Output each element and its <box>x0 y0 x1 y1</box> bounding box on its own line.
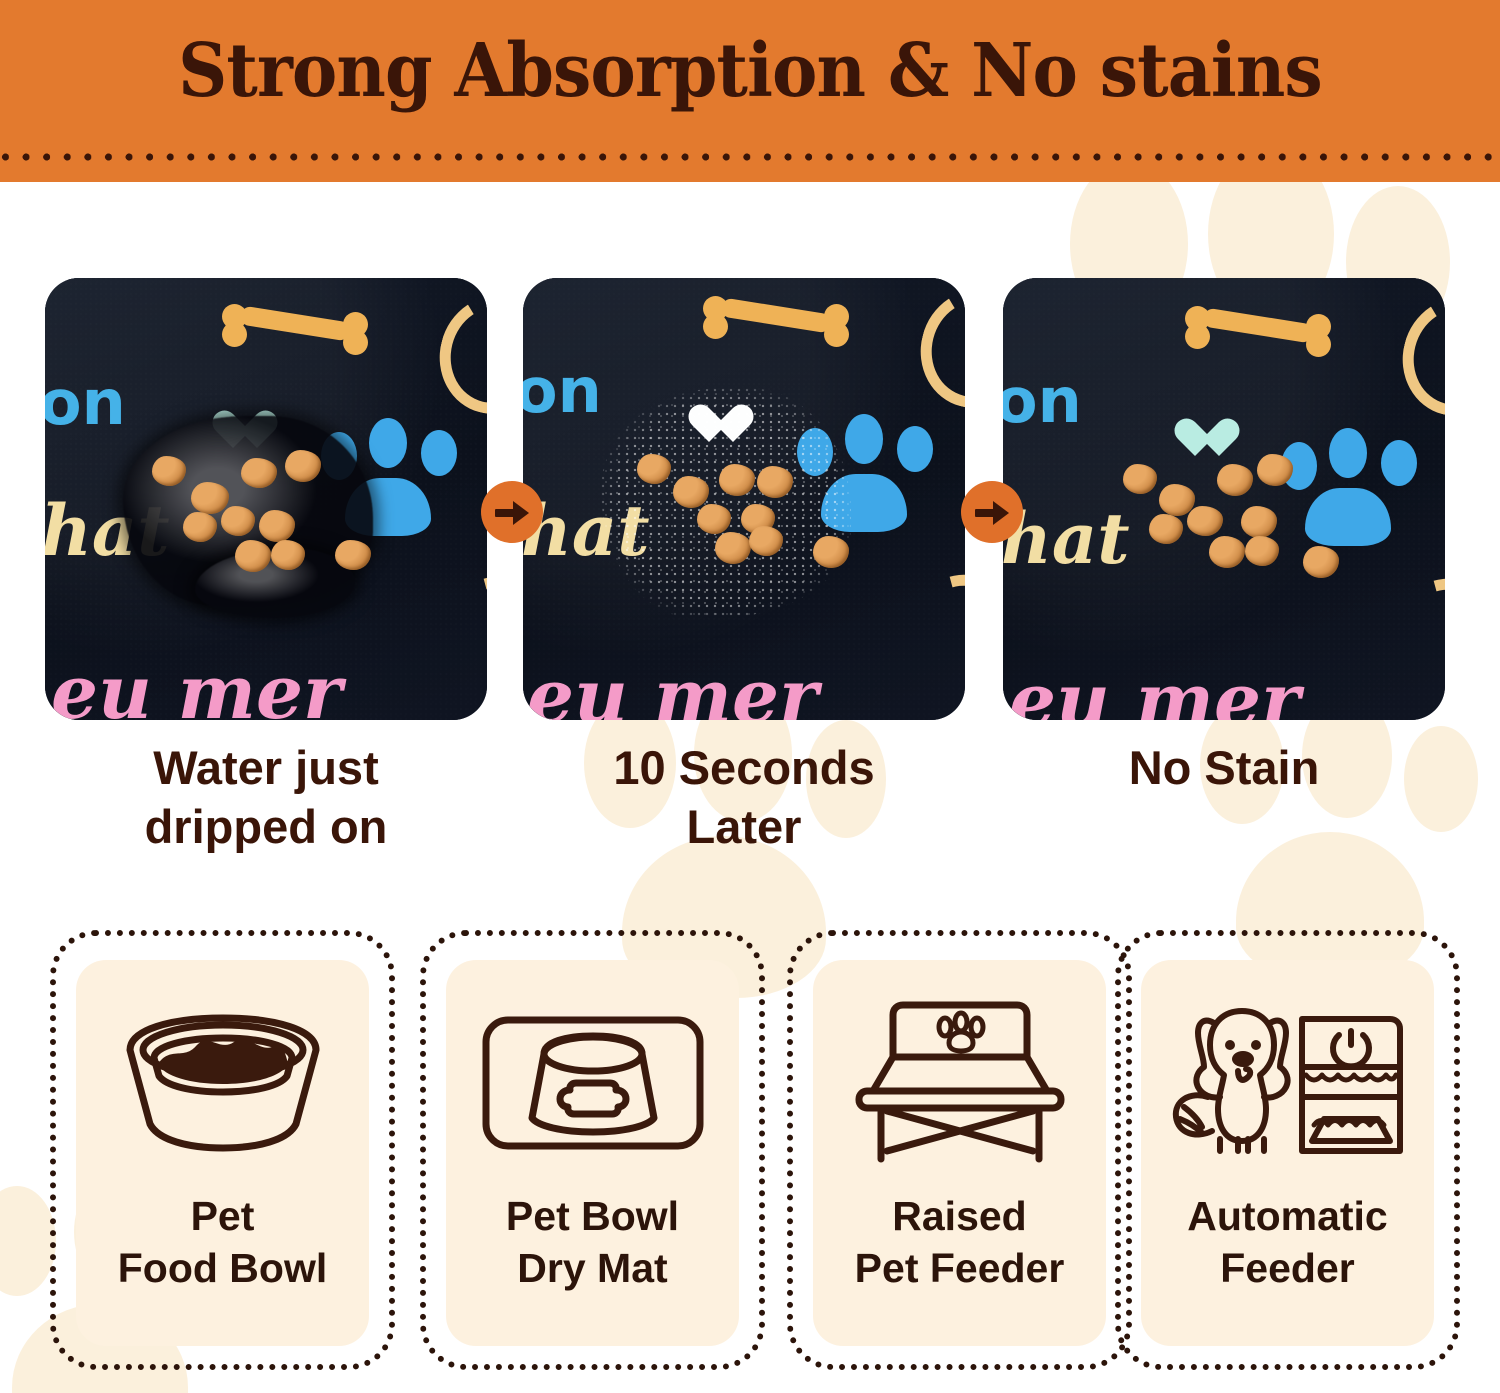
header-banner: Strong Absorption & No stains <box>0 0 1500 182</box>
paw-motif-icon <box>1277 428 1437 558</box>
heart-motif-icon <box>1185 420 1229 460</box>
demo-photo-step-2: on hat eu mer <box>523 278 965 720</box>
feature-card-automatic-feeder[interactable]: Automatic Feeder <box>1115 930 1460 1370</box>
demo-photo-step-1: on hat eu mer <box>45 278 487 720</box>
feature-card-label: Automatic Feeder <box>1187 1190 1387 1294</box>
demo-photo-step-3: on hat eu mer <box>1003 278 1445 720</box>
feature-card-pet-bowl-dry-mat[interactable]: Pet Bowl Dry Mat <box>420 930 765 1370</box>
raised-pet-feeder-icon <box>835 986 1085 1176</box>
bone-motif-icon <box>220 302 370 344</box>
bone-motif-icon <box>701 294 851 336</box>
feature-card-label: Pet Food Bowl <box>118 1190 328 1294</box>
mat-word-mer: eu mer <box>527 660 818 720</box>
feature-card-label: Pet Bowl Dry Mat <box>506 1190 679 1294</box>
absorption-demo-photos: on hat eu mer <box>0 278 1500 720</box>
feature-card-label: Raised Pet Feeder <box>855 1190 1065 1294</box>
feature-card-pet-food-bowl[interactable]: Pet Food Bowl <box>50 930 395 1370</box>
feature-card-raised-pet-feeder[interactable]: Raised Pet Feeder <box>787 930 1132 1370</box>
arrow-right-icon <box>481 481 543 543</box>
header-dotted-divider <box>0 150 1500 164</box>
mat-word-mer: eu mer <box>51 656 342 720</box>
mat-word-mer: eu mer <box>1009 664 1300 720</box>
caption-step-2: 10 Seconds Later <box>523 738 965 856</box>
mat-word-on: on <box>1003 370 1082 432</box>
demo-captions: Water just dripped on 10 Seconds Later N… <box>0 738 1500 888</box>
arrow-right-icon <box>961 481 1023 543</box>
mat-word-on: on <box>523 360 602 422</box>
page-title: Strong Absorption & No stains <box>60 28 1440 114</box>
feature-cards: Pet Food Bowl Pet Bowl Dry Mat <box>0 930 1500 1375</box>
pet-food-bowl-icon <box>98 986 348 1176</box>
bone-motif-icon <box>1183 304 1333 346</box>
damp-patch <box>601 388 851 618</box>
caption-step-1: Water just dripped on <box>45 738 487 856</box>
pet-bowl-dry-mat-icon <box>468 986 718 1176</box>
mat-word-on: on <box>45 372 126 434</box>
automatic-feeder-icon <box>1163 986 1413 1176</box>
caption-step-3: No Stain <box>1003 738 1445 797</box>
